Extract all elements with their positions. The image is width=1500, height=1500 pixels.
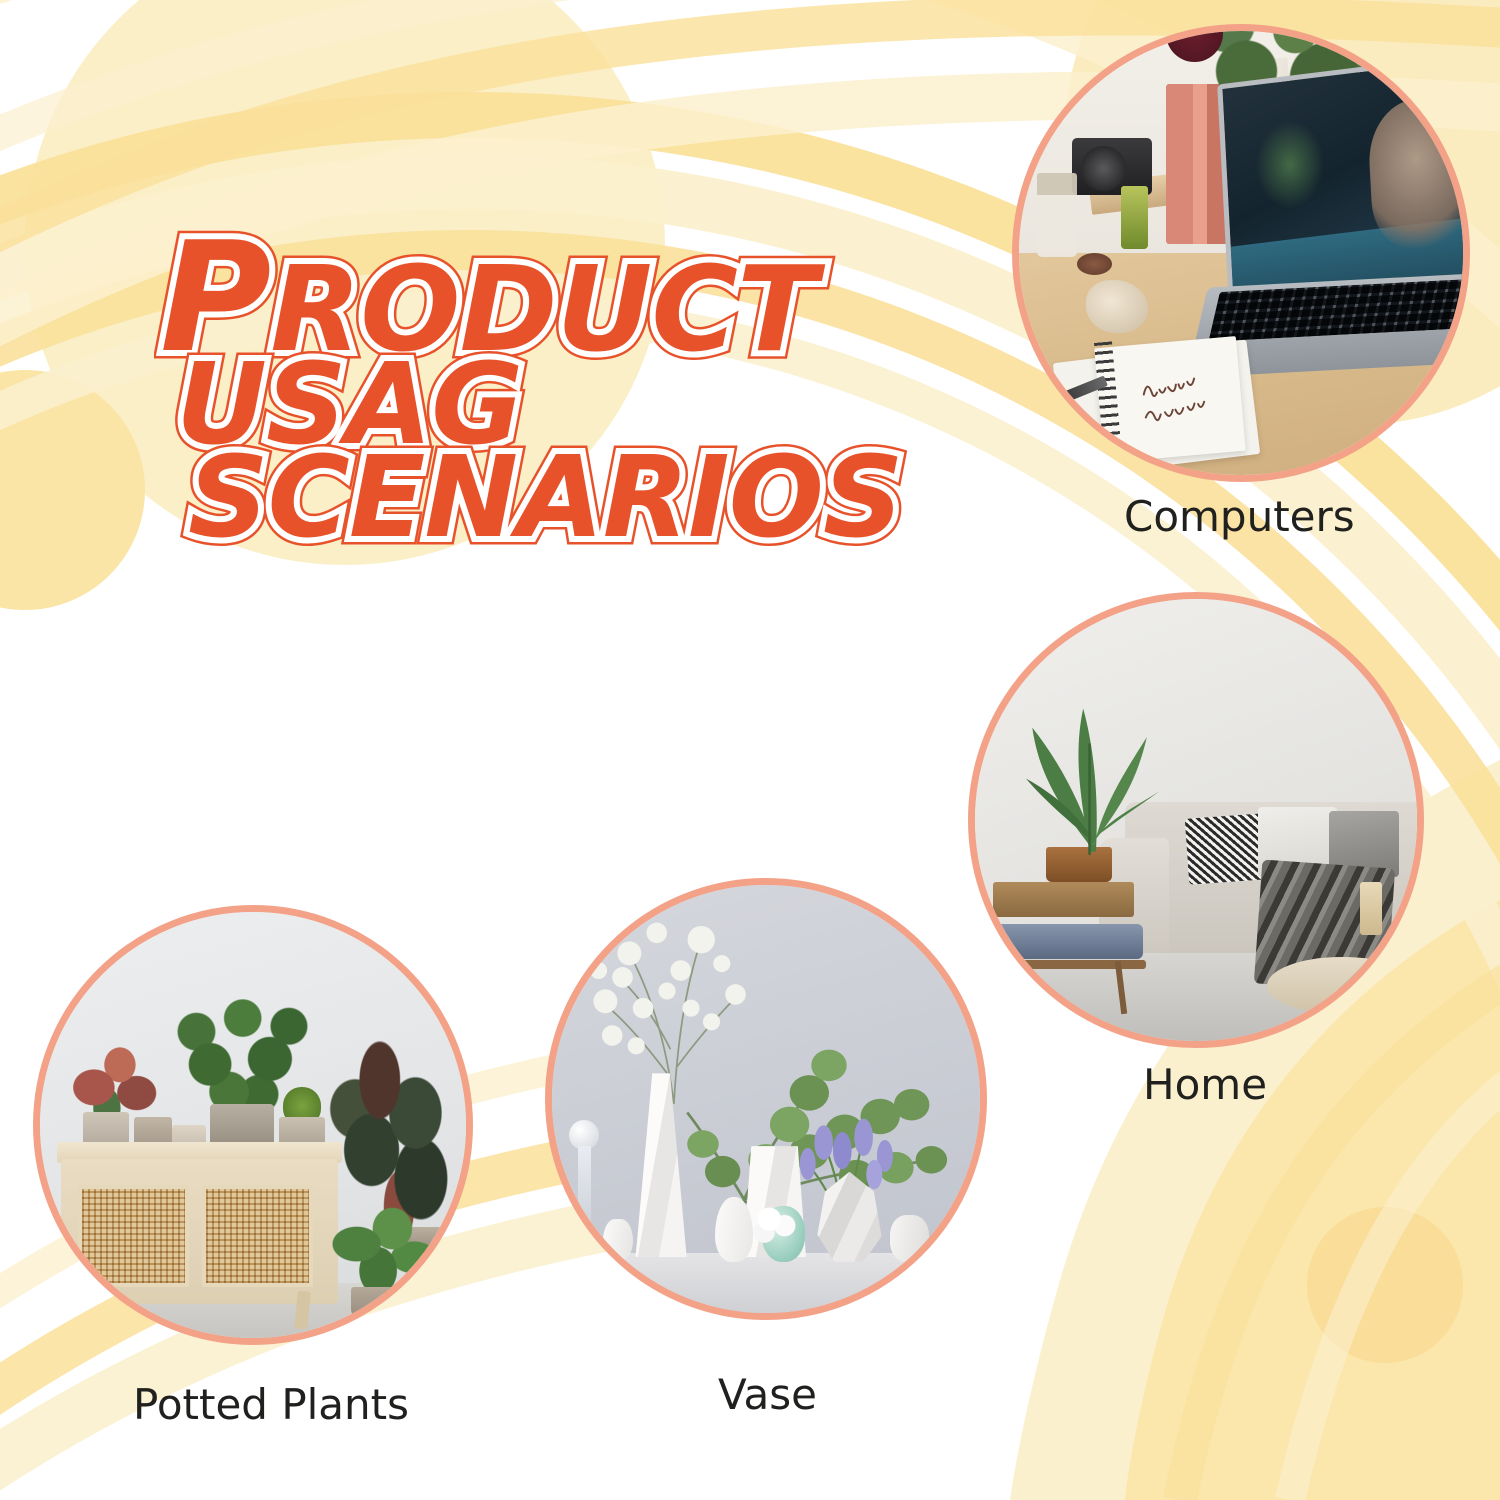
title-line-3-core: SCENARIOS — [188, 433, 903, 563]
houndstooth-cushion — [1185, 813, 1269, 885]
scenario-photo-vase — [545, 878, 987, 1320]
perfume-bottle — [1037, 173, 1077, 257]
scenario-photo-computers — [1012, 24, 1470, 482]
chair-cushion — [984, 924, 1143, 958]
red-aglaonema-foliage — [66, 1031, 160, 1125]
chair-leg — [993, 961, 1006, 1014]
title-line-3: SCENARIOS SCENARIOS SCENARIOS — [188, 447, 950, 550]
candle-holder — [1360, 882, 1382, 935]
table-surface — [552, 1253, 980, 1313]
banana-leaf-plant — [1010, 679, 1169, 856]
product-usage-scenarios-poster: P P P RODUCT RODUCT RODUCT USAG USAG USA… — [0, 0, 1500, 1500]
scenario-photo-home — [968, 592, 1424, 1048]
caption-potted-plants: Potted Plants — [133, 1380, 409, 1429]
tiny-bud-vase — [603, 1219, 633, 1262]
caption-home: Home — [1143, 1060, 1267, 1109]
camera-lens — [1081, 146, 1125, 190]
page-title: P P P RODUCT RODUCT RODUCT USAG USAG USA… — [150, 228, 950, 550]
potted-plants-scene — [40, 912, 466, 1338]
palm-pot — [351, 1287, 436, 1325]
glass-stand — [578, 1146, 591, 1236]
vase-arrangement-scene — [552, 885, 980, 1313]
scenario-photo-potted-plants — [33, 905, 473, 1345]
computers-desk-scene — [1019, 31, 1463, 475]
wooden-armchair — [984, 882, 1143, 1015]
handwritten-note — [1136, 365, 1230, 435]
small-textured-vase — [715, 1197, 754, 1261]
cabinet-cane-door[interactable] — [78, 1185, 189, 1287]
caption-vase: Vase — [718, 1370, 817, 1419]
screen-plant — [1252, 115, 1328, 215]
cabinet-cane-door[interactable] — [202, 1185, 313, 1287]
right-small-vase — [890, 1215, 929, 1262]
chair-leg — [1114, 961, 1127, 1014]
home-living-room-scene — [975, 599, 1417, 1041]
screen-figure — [1367, 90, 1470, 253]
green-bottle — [1121, 186, 1148, 248]
caption-computers: Computers — [1124, 492, 1355, 541]
white-ranunculus — [749, 1202, 800, 1245]
